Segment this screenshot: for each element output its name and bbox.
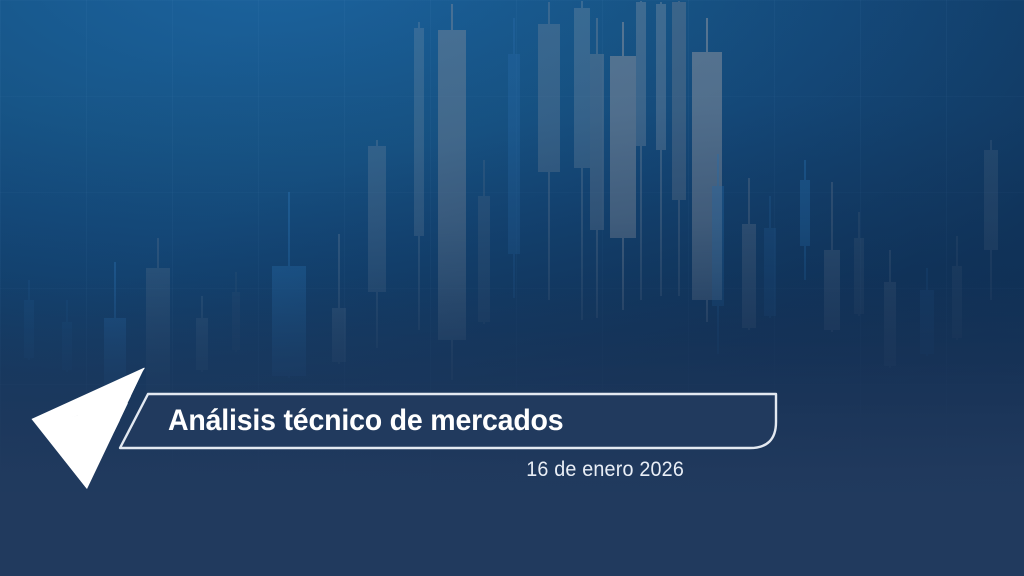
title-banner: Análisis técnico de mercados	[118, 392, 778, 450]
slide-root: Análisis técnico de mercados 16 de enero…	[0, 0, 1024, 576]
slide-date: 16 de enero 2026	[41, 458, 684, 482]
bottom-band	[0, 492, 1024, 576]
page-title: Análisis técnico de mercados	[168, 392, 563, 450]
